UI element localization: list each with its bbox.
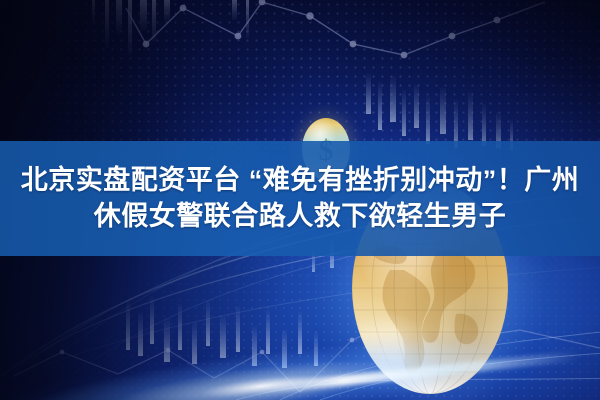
headline-line-1: 北京实盘配资平台 “难免有挫折别冲动”！广州 (21, 164, 580, 197)
banner-image: $ (0, 0, 600, 400)
headline-text-block: 北京实盘配资平台 “难免有挫折别冲动”！广州 休假女警联合路人救下欲轻生男子 (0, 141, 600, 256)
headline-line-2: 休假女警联合路人救下欲轻生男子 (94, 200, 507, 233)
